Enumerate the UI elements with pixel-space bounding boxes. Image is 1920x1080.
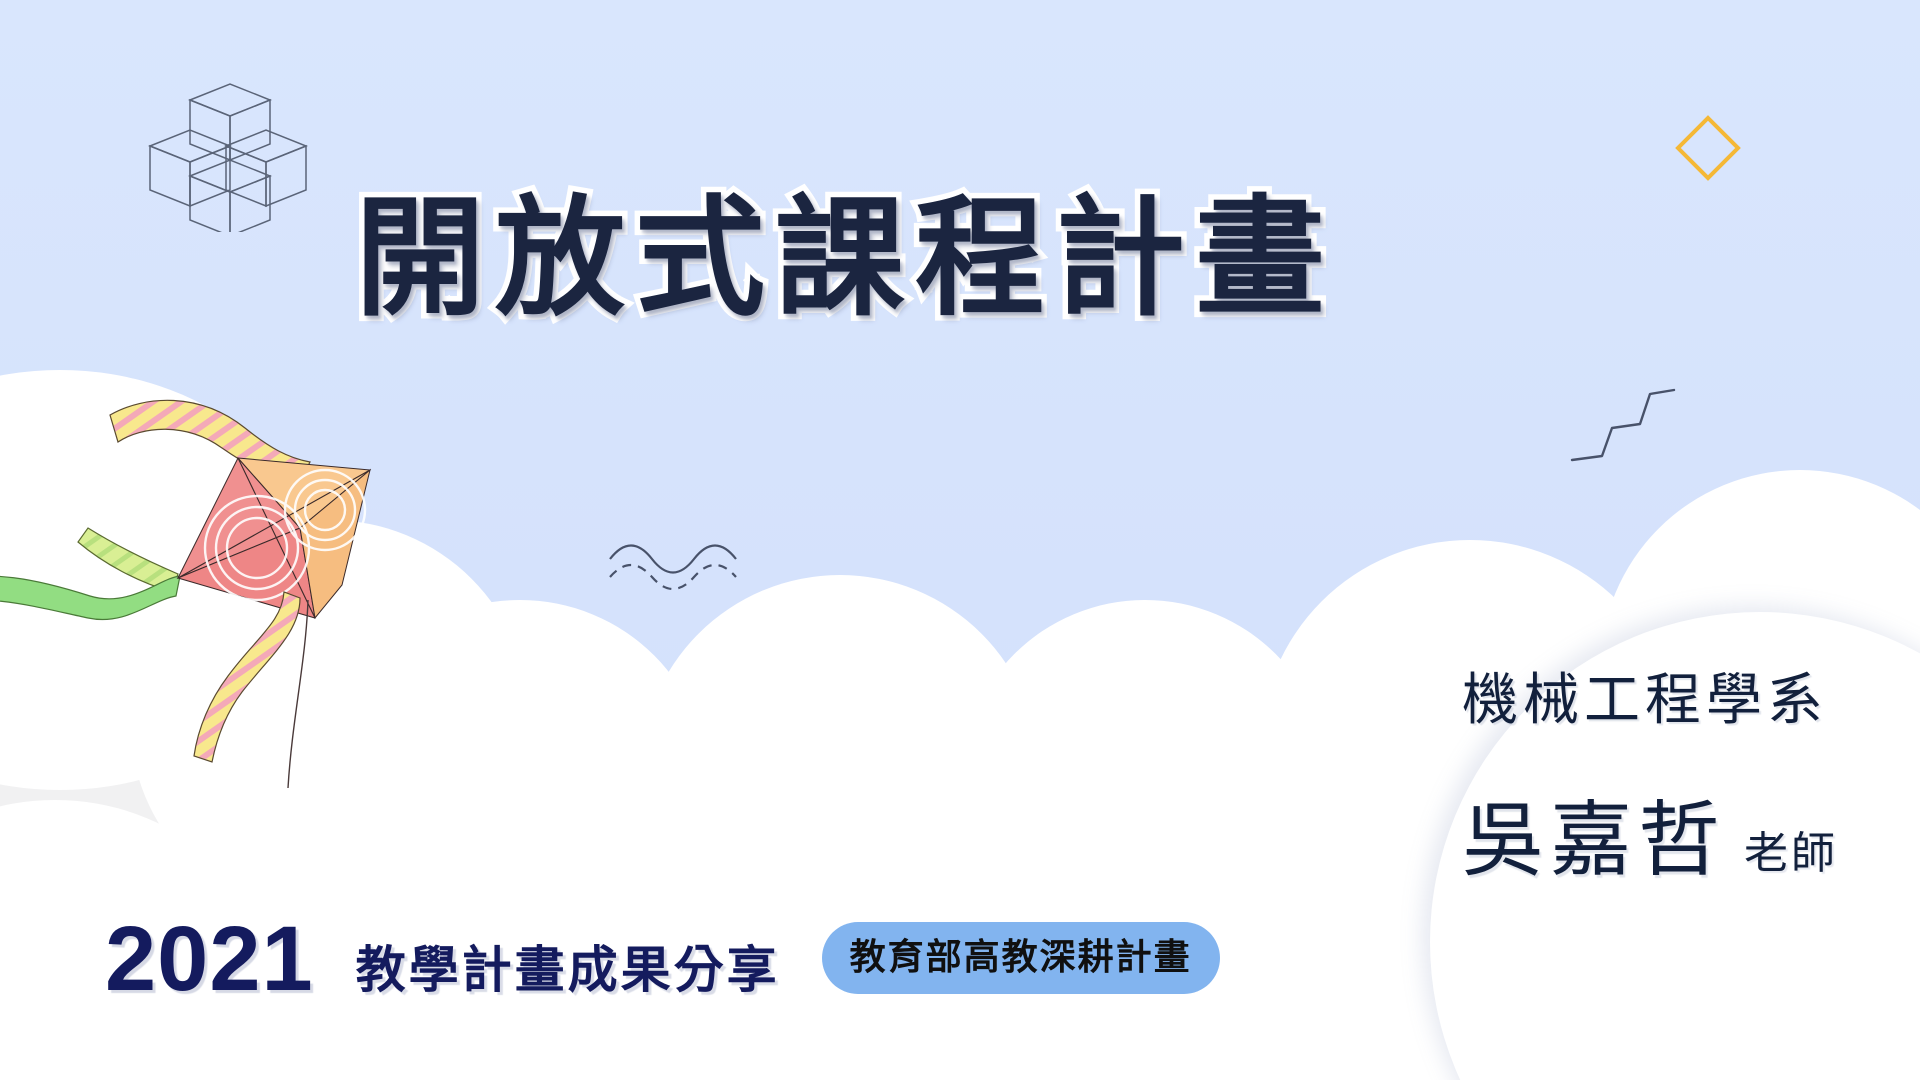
department-name: 機械工程學系: [1462, 672, 1920, 728]
presentation-slide: 機械工程學系 吳嘉哲 老師 開放式課程計畫 2021 教學計畫成果分享 教育部高…: [0, 0, 1920, 1080]
program-badge: 教育部高教深耕計畫: [822, 922, 1220, 994]
page-title: 開放式課程計畫: [355, 193, 1335, 323]
isometric-cubes-icon: [118, 82, 318, 232]
subtitle-label: 教學計畫成果分享: [356, 945, 780, 1002]
bottom-bar: 2021 教學計畫成果分享 教育部高教深耕計畫: [105, 917, 1220, 1002]
diamond-outline-icon: [1672, 112, 1744, 184]
presenter-row: 吳嘉哲 老師: [1462, 800, 1920, 882]
zigzag-line-icon: [1568, 368, 1678, 478]
presenter-role: 老師: [1744, 832, 1838, 876]
wavy-lines-icon: [606, 543, 746, 591]
title-block: 開放式課程計畫: [355, 193, 1335, 323]
kite-icon: [0, 370, 420, 795]
presenter-name: 吳嘉哲: [1462, 800, 1726, 882]
year-label: 2021: [105, 917, 314, 1002]
presenter-info: 機械工程學系 吳嘉哲 老師: [1462, 672, 1920, 882]
